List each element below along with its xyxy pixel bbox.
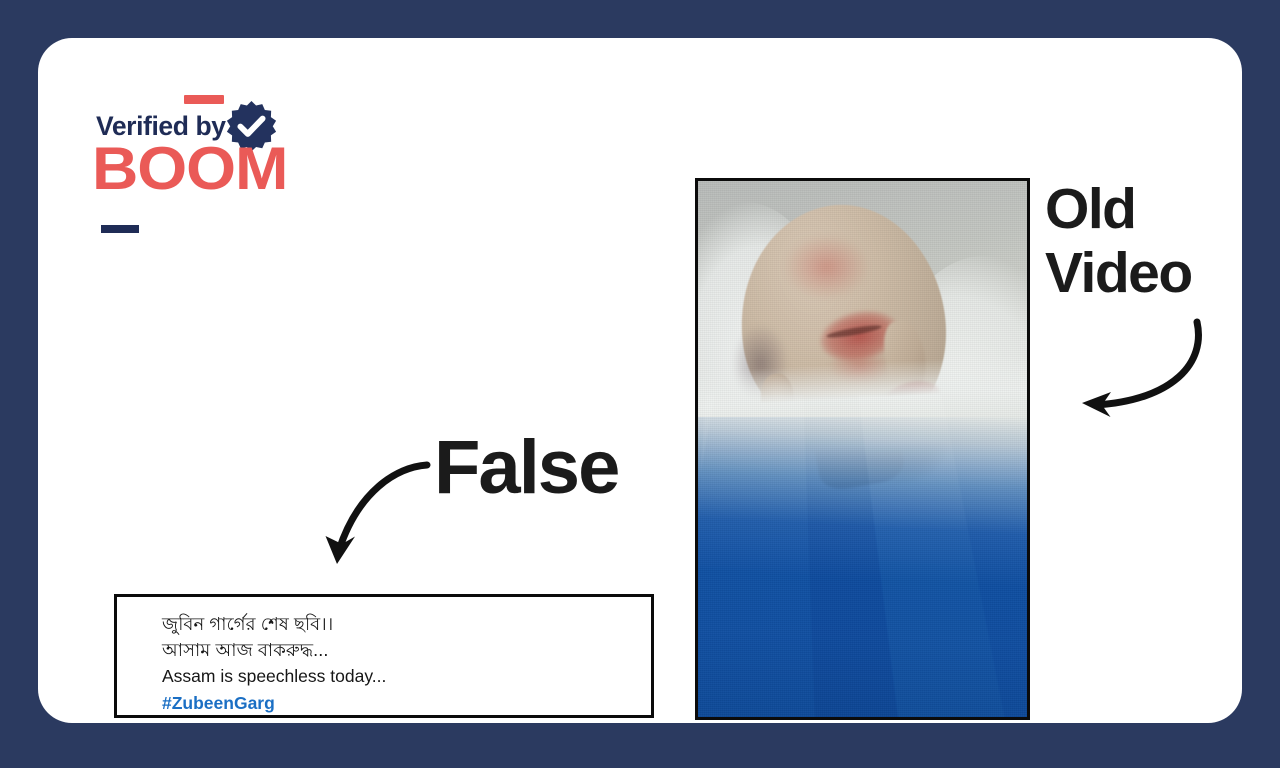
navy-accent-bar — [101, 225, 139, 233]
curved-arrow-down-left-icon — [320, 438, 432, 570]
photo-content — [698, 181, 1027, 717]
verdict-old-video-line2: Video — [1045, 242, 1192, 306]
caption-hashtag[interactable]: #ZubeenGarg — [162, 690, 651, 716]
verified-by-boom-logo: Verified by BOOM — [96, 85, 326, 205]
claim-caption-box: জুবিন গার্গের শেষ ছবি।। আসাম আজ বাকরুদ্ধ… — [114, 594, 654, 718]
curved-arrow-down-left-icon — [1070, 316, 1220, 420]
verdict-false-label: False — [434, 430, 618, 506]
hospital-bed-photo — [695, 178, 1030, 720]
fact-check-card: Verified by BOOM — [38, 38, 1242, 723]
caption-line-bengali-2: আসাম আজ বাকরুদ্ধ... — [162, 637, 651, 663]
caption-line-bengali-1: জুবিন গার্গের শেষ ছবি।। — [162, 611, 651, 637]
photo-blanket-folds — [698, 395, 1027, 717]
verdict-old-video-label: Old Video — [1045, 178, 1192, 306]
caption-line-english: Assam is speechless today... — [162, 664, 651, 690]
logo-brand-text: BOOM — [92, 139, 287, 199]
photo-forehead-mark — [784, 235, 870, 299]
red-accent-bar — [184, 95, 224, 104]
verdict-old-video-line1: Old — [1045, 178, 1192, 242]
